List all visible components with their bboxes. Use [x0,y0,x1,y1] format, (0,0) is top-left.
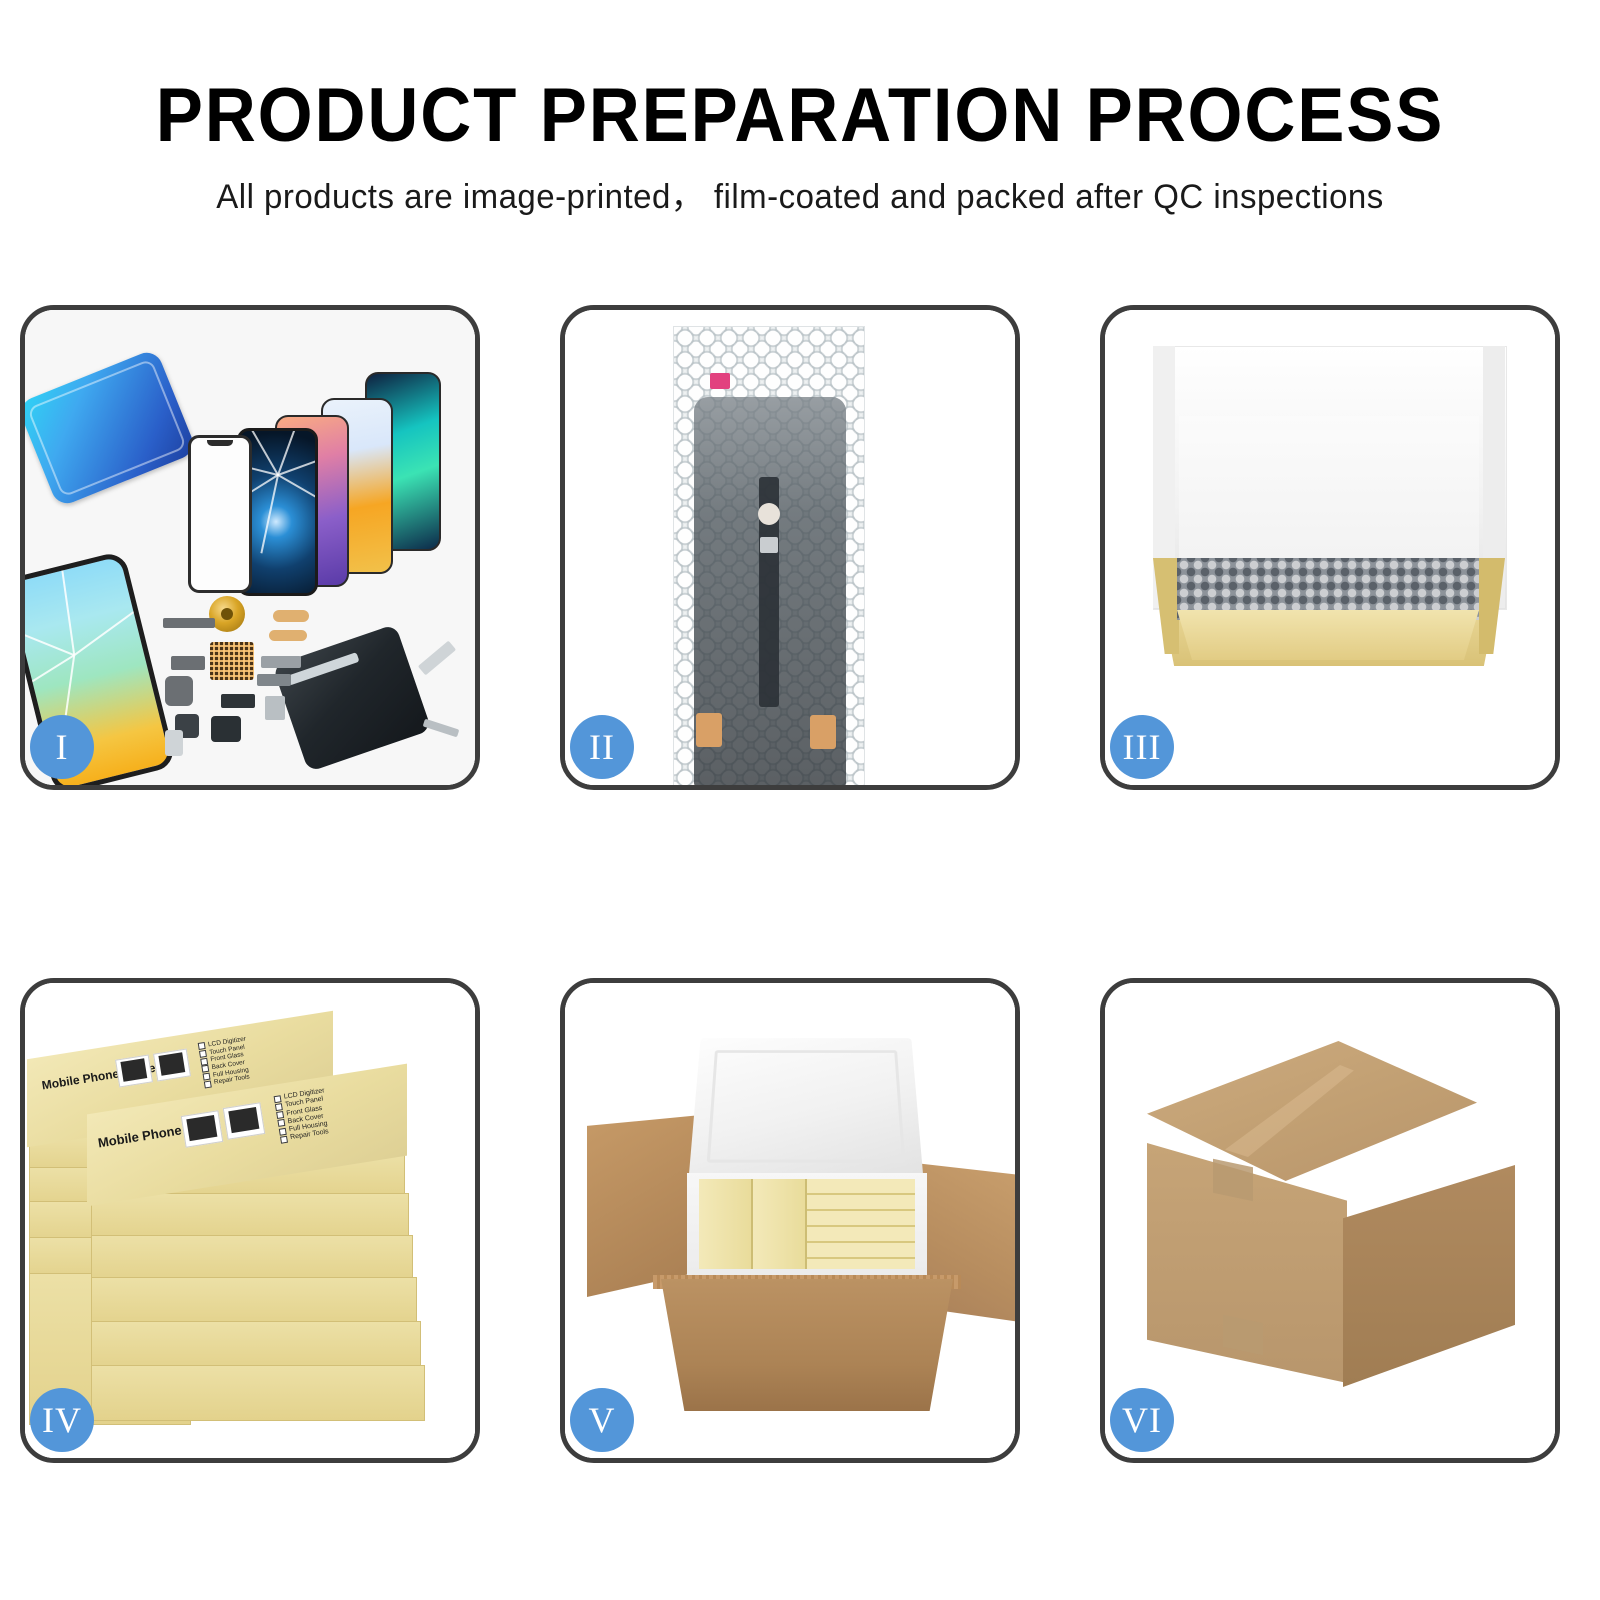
carton-flap-left [587,1115,701,1297]
process-step-panel-3[interactable]: III [1100,305,1560,790]
adhesive-film-part [25,348,198,508]
box-thumb-back-a [115,1055,153,1088]
back-housing-part [272,624,431,772]
earpiece-part [211,716,241,742]
connector-part-b [165,676,193,706]
bubble-wrapped-screen-image [565,310,1015,785]
step-badge-4: IV [30,1388,94,1452]
boxes-stacked-group [807,1179,915,1269]
collage-scene [25,310,475,785]
step-badge-5: V [570,1388,634,1452]
box-right-3 [91,1235,413,1283]
box-thumb-front-b [223,1102,266,1140]
carton-scene [565,983,1015,1458]
box-thumb-back-b [153,1049,191,1082]
box-right-5 [91,1321,421,1371]
box-right-6 [91,1365,425,1421]
connector-part-a [171,656,205,670]
front-glass-part [188,435,252,593]
tweezers-tool [418,641,456,676]
home-button-part [758,503,780,525]
pink-qc-tape [710,373,730,389]
connector-right [810,715,836,749]
box-checklist-back: LCD Digitizer Touch Panel Front Glass Ba… [198,1036,253,1089]
boxstack-scene: Mobile Phone Spare Parts LCD Digitizer T… [25,983,475,1458]
box-thumb-front-a [181,1110,224,1148]
flex-cable-part-b [269,630,307,641]
driver-ic-part [760,537,778,553]
process-step-grid: I II [0,0,1600,1600]
foam-cooler-lid [689,1038,924,1177]
carton-body [661,1279,953,1411]
sealed-shipping-carton-image [1105,983,1555,1458]
process-step-panel-5[interactable]: V [560,978,1020,1463]
step-badge-2: II [570,715,634,779]
box-right-4 [91,1277,417,1327]
step-badge-6: VI [1110,1388,1174,1452]
ribbon-part-a [261,656,301,668]
box-checklist-front: LCD Digitizer Touch Panel Front Glass Ba… [273,1087,331,1144]
foam-cooler-carton-image [565,983,1015,1458]
kraft-tray-front-lip [1177,610,1479,660]
ribbon-part-b [257,674,291,686]
printed-retail-boxes-image: Mobile Phone Spare Parts LCD Digitizer T… [25,983,475,1458]
flatbox-scene [1105,310,1555,785]
vibrator-part [265,696,285,720]
foam-lined-box-image [1105,310,1555,785]
speaker-mesh-part [163,618,215,628]
bubblewrap-scene [565,310,1015,785]
sealed-carton-scene [1105,983,1555,1458]
process-step-panel-2[interactable]: II [560,305,1020,790]
sealed-carton-side-face [1343,1165,1515,1387]
process-step-panel-1[interactable]: I [20,305,480,790]
sim-tray-part [165,730,183,756]
bubble-wrap-bag [673,326,865,785]
process-step-panel-4[interactable]: Mobile Phone Spare Parts LCD Digitizer T… [20,978,480,1463]
process-step-panel-6[interactable]: VI [1100,978,1560,1463]
connector-left [696,713,722,747]
flex-cable-part-a [273,610,309,622]
chip-array-part [210,642,254,680]
packed-retail-boxes [699,1179,915,1269]
step-badge-1: I [30,715,94,779]
screwdriver-tool [423,719,460,738]
step-badge-3: III [1110,715,1174,779]
phone-parts-collage-image [25,310,475,785]
ic-chip-part [221,694,255,708]
box-right-2 [91,1193,409,1241]
